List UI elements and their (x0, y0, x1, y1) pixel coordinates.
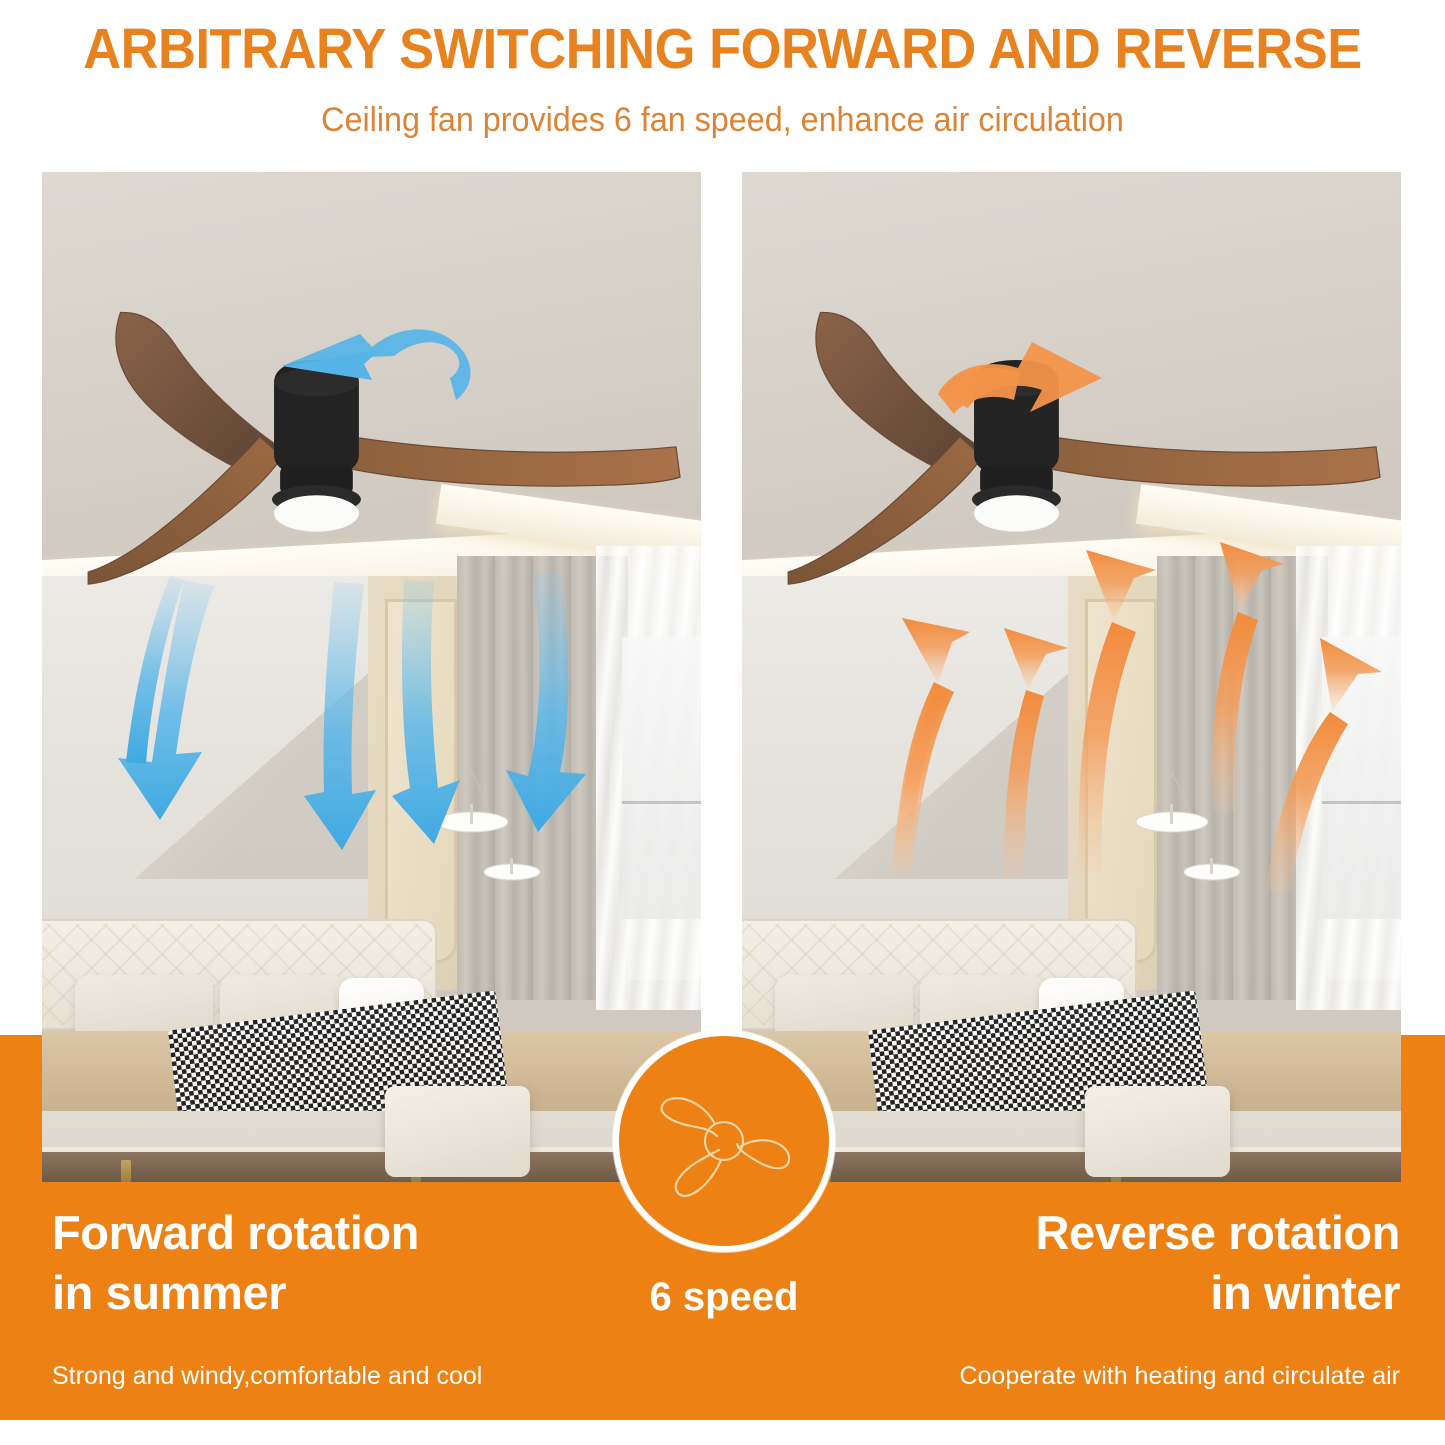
wardrobe-inset (1085, 599, 1157, 963)
bed-leg (121, 1160, 131, 1182)
floor-cushion (1085, 1086, 1230, 1177)
header: ARBITRARY SWITCHING FORWARD AND REVERSE … (0, 0, 1445, 172)
forward-heading-line1: Forward rotation (52, 1203, 482, 1263)
fan-blade-icon (649, 1066, 799, 1216)
infographic-page: ARBITRARY SWITCHING FORWARD AND REVERSE … (0, 0, 1445, 1445)
photo-panel-reverse (742, 172, 1401, 1182)
speed-badge (613, 1030, 835, 1252)
page-subtitle: Ceiling fan provides 6 fan speed, enhanc… (36, 101, 1409, 140)
forward-rotation-block: Forward rotation in summer Strong and wi… (52, 1203, 482, 1391)
window (622, 637, 701, 920)
ceiling-fan-right (782, 263, 1388, 606)
reverse-heading-line2: in winter (959, 1263, 1400, 1323)
speed-label: 6 speed (613, 1275, 835, 1320)
page-title: ARBITRARY SWITCHING FORWARD AND REVERSE (58, 16, 1387, 82)
forward-heading-line2: in summer (52, 1263, 482, 1323)
photo-panel-forward (42, 172, 701, 1182)
window (1322, 637, 1401, 920)
reverse-rotation-block: Reverse rotation in winter Cooperate wit… (959, 1203, 1400, 1391)
reverse-heading-line1: Reverse rotation (959, 1203, 1400, 1263)
ceiling-fan-left (82, 263, 688, 606)
floor (742, 1152, 1401, 1182)
floor (42, 1152, 701, 1182)
wardrobe-inset (385, 599, 457, 963)
forward-caption: Strong and windy,comfortable and cool (52, 1362, 482, 1391)
reverse-caption: Cooperate with heating and circulate air (959, 1362, 1400, 1391)
floor-cushion (385, 1086, 530, 1177)
